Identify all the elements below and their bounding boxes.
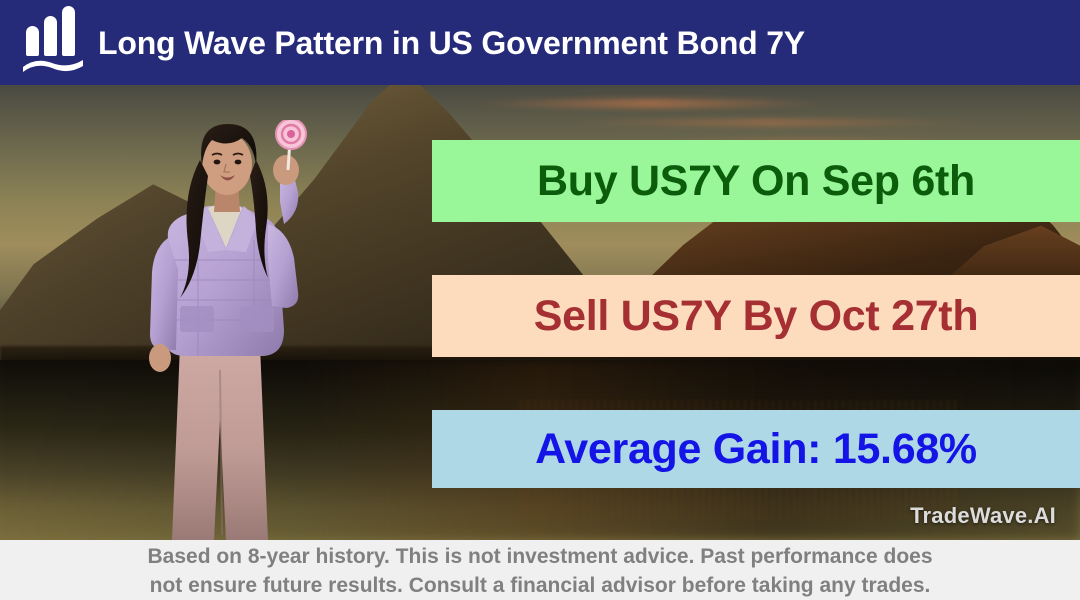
logo-bar-2 bbox=[44, 16, 57, 56]
logo-bar-3 bbox=[62, 6, 75, 56]
right-hand bbox=[273, 155, 299, 185]
left-eye bbox=[214, 160, 221, 165]
person-photo bbox=[108, 120, 348, 540]
left-hand bbox=[149, 344, 171, 372]
logo-bar-1 bbox=[26, 26, 39, 56]
cloud-streak-icon bbox=[470, 99, 830, 108]
poster-header: Long Wave Pattern in US Government Bond … bbox=[0, 0, 1080, 85]
brand-watermark: TradeWave.AI bbox=[910, 503, 1056, 529]
disclaimer-line-1: Based on 8-year history. This is not inv… bbox=[0, 542, 1080, 571]
right-arm bbox=[268, 224, 298, 308]
callout-sell[interactable]: Sell US7Y By Oct 27th bbox=[432, 275, 1080, 357]
disclaimer-line-2: not ensure future results. Consult a fin… bbox=[0, 571, 1080, 600]
promo-poster: Long Wave Pattern in US Government Bond … bbox=[0, 0, 1080, 600]
callout-average-gain[interactable]: Average Gain: 15.68% bbox=[432, 410, 1080, 488]
disclaimer-band: Based on 8-year history. This is not inv… bbox=[0, 540, 1080, 600]
logo-wave-icon bbox=[22, 55, 84, 73]
right-eye bbox=[235, 160, 242, 165]
cloud-streak-icon bbox=[560, 119, 980, 126]
tradewave-logo-icon bbox=[22, 15, 84, 73]
callout-buy[interactable]: Buy US7Y On Sep 6th bbox=[432, 140, 1080, 222]
page-title: Long Wave Pattern in US Government Bond … bbox=[98, 27, 805, 59]
